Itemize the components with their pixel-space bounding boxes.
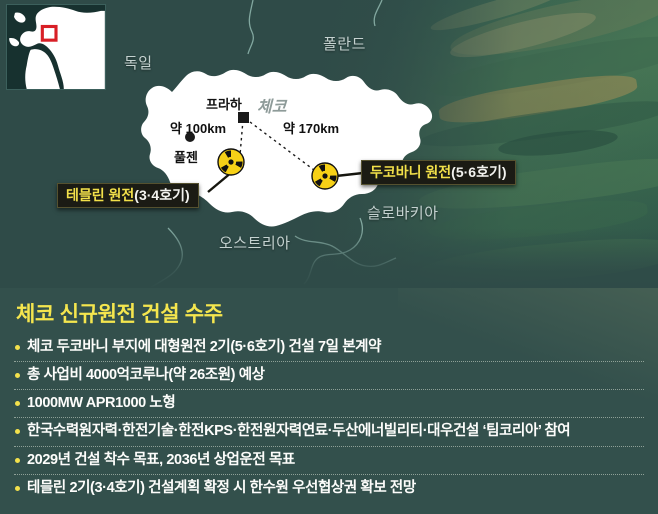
list-item: 테믈린 2기(3·4호기) 건설계획 확정 시 한수원 우선협상권 확보 전망 [14,475,644,502]
radiation-icon [218,149,244,175]
distance-label-dukovany: 약 170km [283,118,339,137]
prague-square-marker [238,112,249,123]
bullet-list: 체코 두코바니 부지에 대형원전 2기(5·6호기) 건설 7일 본계약 총 사… [14,334,644,502]
capital-label-prague: 프라하 [206,94,242,113]
summary-panel: 체코 신규원전 건설 수주 체코 두코바니 부지에 대형원전 2기(5·6호기)… [0,288,658,514]
list-item: 1000MW APR1000 노형 [14,390,644,418]
infographic-page: 독일 폴란드 슬로바키아 오스트리아 체코 프라하 풀젠 약 100km 약 1… [0,0,658,514]
list-item: 2029년 건설 착수 목표, 2036년 상업운전 목표 [14,447,644,475]
country-label-poland: 폴란드 [323,33,366,54]
list-item: 한국수력원자력·한전기술·한전KPS·한전원자력연료·두산에너빌리티·대우건설 … [14,418,644,446]
list-item: 체코 두코바니 부지에 대형원전 2기(5·6호기) 건설 7일 본계약 [14,334,644,362]
czech-country-name: 체코 [257,93,286,117]
country-label-germany: 독일 [124,52,153,73]
country-label-slovakia: 슬로바키아 [367,202,439,223]
country-label-austria: 오스트리아 [219,232,291,253]
plant-units-temelin: (3·4호기) [134,187,189,203]
list-item: 총 사업비 4000억코루나(약 26조원) 예상 [14,362,644,390]
plant-units-dukovany: (5·6호기) [451,164,506,180]
plant-name-dukovany: 두코바니 원전 [370,164,451,180]
map-photo-area: 독일 폴란드 슬로바키아 오스트리아 체코 프라하 풀젠 약 100km 약 1… [0,0,658,288]
plant-callout-temelin[interactable]: 테믈린 원전(3·4호기) [57,183,199,208]
plant-name-temelin: 테믈린 원전 [66,187,134,203]
locator-map-svg [7,5,105,89]
page-title: 체코 신규원전 건설 수주 [14,294,644,334]
radiation-icon [312,163,338,189]
photo-bottom-fade [0,228,658,288]
city-label-plzen: 풀젠 [174,147,198,166]
distance-label-temelin: 약 100km [170,118,226,137]
europe-locator-map [6,4,106,90]
plant-callout-dukovany[interactable]: 두코바니 원전(5·6호기) [361,160,516,185]
